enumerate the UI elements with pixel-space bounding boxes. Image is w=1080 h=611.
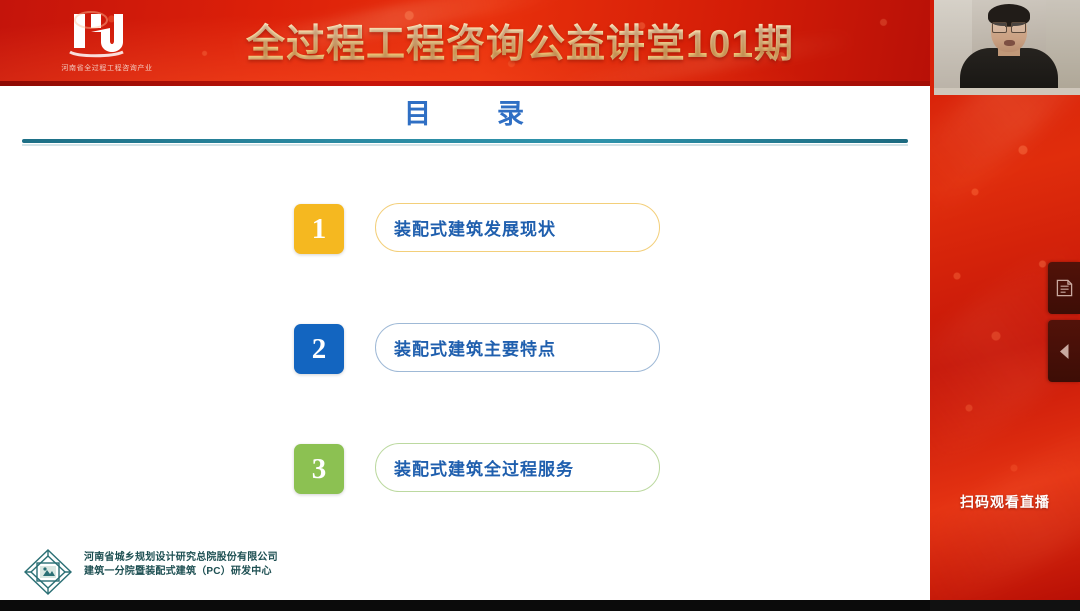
- screen-root: 河南省全过程工程咨询产业 全过程工程咨询公益讲堂101期 目录 1 装配式建筑发…: [0, 0, 1080, 611]
- screen-bottom-bar: [0, 600, 1080, 611]
- note-edit-icon: [1056, 279, 1073, 297]
- toc-item[interactable]: 1 装配式建筑发展现状: [0, 196, 930, 316]
- slide-header-banner: 河南省全过程工程咨询产业 全过程工程咨询公益讲堂101期: [0, 0, 930, 86]
- slide-footer: 河南省城乡规划设计研究总院股份有限公司 建筑一分院暨装配式建筑（PC）研发中心: [22, 545, 522, 600]
- toc-label: 装配式建筑主要特点: [376, 335, 556, 360]
- toc-number: 3: [312, 453, 327, 486]
- toc-pill[interactable]: 装配式建筑主要特点: [375, 323, 660, 372]
- presenter-mouth: [1004, 40, 1015, 46]
- toc-label: 装配式建筑全过程服务: [376, 455, 574, 480]
- footer-line-2: 建筑一分院暨装配式建筑（PC）研发中心: [84, 565, 278, 579]
- notes-button[interactable]: [1048, 262, 1080, 314]
- banner-title: 全过程工程咨询公益讲堂101期: [0, 0, 930, 82]
- presenter-glasses-icon: [992, 22, 1026, 31]
- toc-item[interactable]: 3 装配式建筑全过程服务: [0, 436, 930, 556]
- institute-diamond-logo-icon: [22, 547, 74, 597]
- toc-item[interactable]: 2 装配式建筑主要特点: [0, 316, 930, 436]
- heading-char-left: 目: [404, 99, 433, 129]
- slide-heading: 目录: [0, 92, 930, 131]
- toc-pill[interactable]: 装配式建筑发展现状: [375, 203, 660, 252]
- scan-qr-caption: 扫码观看直播: [930, 492, 1080, 512]
- banner-title-text: 全过程工程咨询公益讲堂101期: [246, 13, 794, 69]
- toc-number-badge: 2: [294, 324, 344, 374]
- scan-qr-caption-text: 扫码观看直播: [960, 494, 1050, 510]
- toc-pill[interactable]: 装配式建筑全过程服务: [375, 443, 660, 492]
- collapse-panel-button[interactable]: [1048, 320, 1080, 382]
- heading-divider-shadow: [22, 144, 908, 146]
- presenter-camera-video[interactable]: [934, 0, 1080, 95]
- bottom-bar-right-segment: [930, 600, 1080, 611]
- toc-number: 1: [312, 213, 327, 246]
- heading-char-right: 录: [497, 99, 526, 129]
- camera-desk-edge: [934, 88, 1080, 95]
- table-of-contents: 1 装配式建筑发展现状 2 装配式建筑主要特点 3 装配式建: [0, 196, 930, 556]
- footer-line-1: 河南省城乡规划设计研究总院股份有限公司: [84, 551, 278, 565]
- chevron-left-icon: [1058, 343, 1071, 360]
- presentation-slide: 河南省全过程工程咨询产业 全过程工程咨询公益讲堂101期 目录 1 装配式建筑发…: [0, 0, 930, 600]
- footer-text: 河南省城乡规划设计研究总院股份有限公司 建筑一分院暨装配式建筑（PC）研发中心: [84, 551, 278, 579]
- toc-number-badge: 3: [294, 444, 344, 494]
- toc-label: 装配式建筑发展现状: [376, 215, 556, 240]
- toc-number: 2: [312, 333, 327, 366]
- toc-number-badge: 1: [294, 204, 344, 254]
- heading-divider: [22, 139, 908, 143]
